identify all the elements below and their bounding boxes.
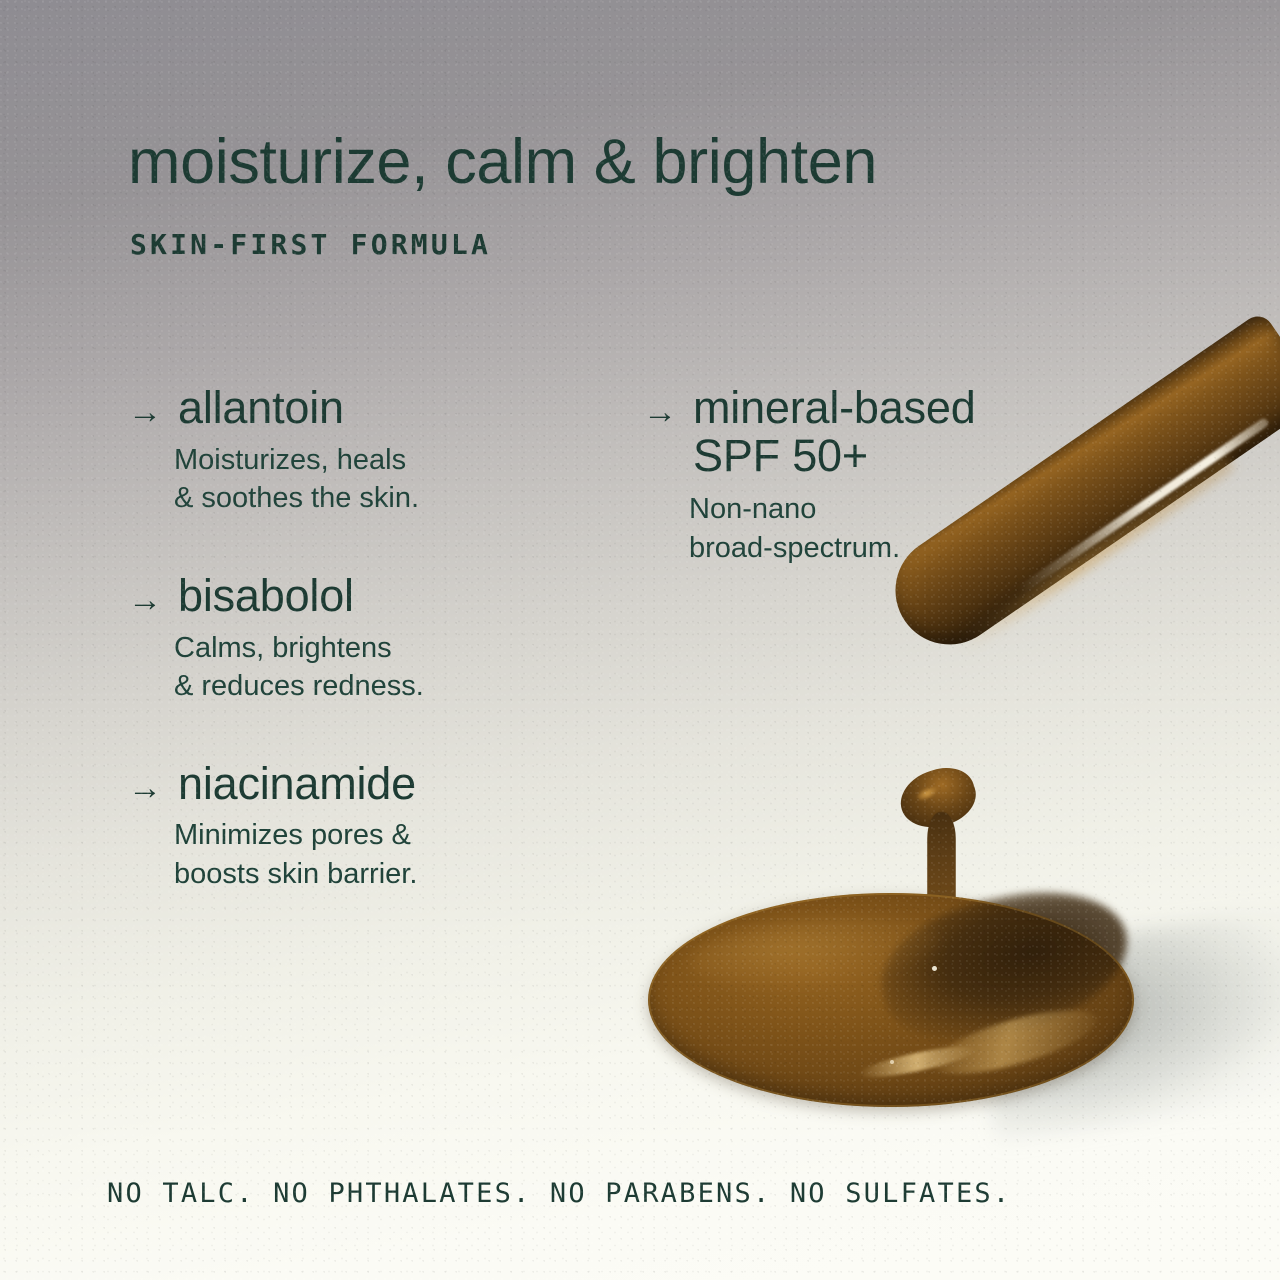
feature-description: Minimizes pores & boosts skin barrier. bbox=[174, 816, 598, 893]
feature-item-niacinamide: → niacinamide Minimizes pores & boosts s… bbox=[128, 760, 598, 894]
feature-name: allantoin bbox=[178, 384, 344, 432]
feature-name: niacinamide bbox=[178, 760, 416, 808]
feature-description: Non-nano broad-spectrum. bbox=[689, 490, 1143, 567]
arrow-right-icon: → bbox=[128, 384, 162, 429]
arrow-right-icon: → bbox=[128, 572, 162, 617]
feature-heading: → bisabolol bbox=[128, 572, 598, 620]
feature-description: Calms, brightens & reduces redness. bbox=[174, 629, 598, 706]
feature-item-bisabolol: → bisabolol Calms, brightens & reduces r… bbox=[128, 572, 598, 706]
feature-heading: → allantoin bbox=[128, 384, 598, 432]
feature-item-mineral-spf: → mineral-based SPF 50+ Non-nano broad-s… bbox=[643, 384, 1143, 568]
feature-heading: → niacinamide bbox=[128, 760, 598, 808]
arrow-right-icon: → bbox=[128, 760, 162, 805]
text-overlay: moisturize, calm & brighten SKIN-FIRST F… bbox=[0, 0, 1280, 1280]
feature-item-allantoin: → allantoin Moisturizes, heals & soothes… bbox=[128, 384, 598, 518]
page-title: moisturize, calm & brighten bbox=[128, 129, 877, 195]
feature-name: mineral-based SPF 50+ bbox=[693, 384, 976, 479]
feature-name: bisabolol bbox=[178, 572, 354, 620]
feature-heading: → mineral-based SPF 50+ bbox=[643, 384, 1143, 479]
feature-description: Moisturizes, heals & soothes the skin. bbox=[174, 441, 598, 518]
product-infographic: moisturize, calm & brighten SKIN-FIRST F… bbox=[0, 0, 1280, 1280]
arrow-right-icon: → bbox=[643, 384, 677, 429]
free-from-claims: NO TALC. NO PHTHALATES. NO PARABENS. NO … bbox=[107, 1178, 1011, 1209]
ingredients-column-right: → mineral-based SPF 50+ Non-nano broad-s… bbox=[643, 384, 1143, 568]
page-subtitle: SKIN-FIRST FORMULA bbox=[130, 228, 491, 261]
ingredients-column-left: → allantoin Moisturizes, heals & soothes… bbox=[128, 384, 598, 893]
